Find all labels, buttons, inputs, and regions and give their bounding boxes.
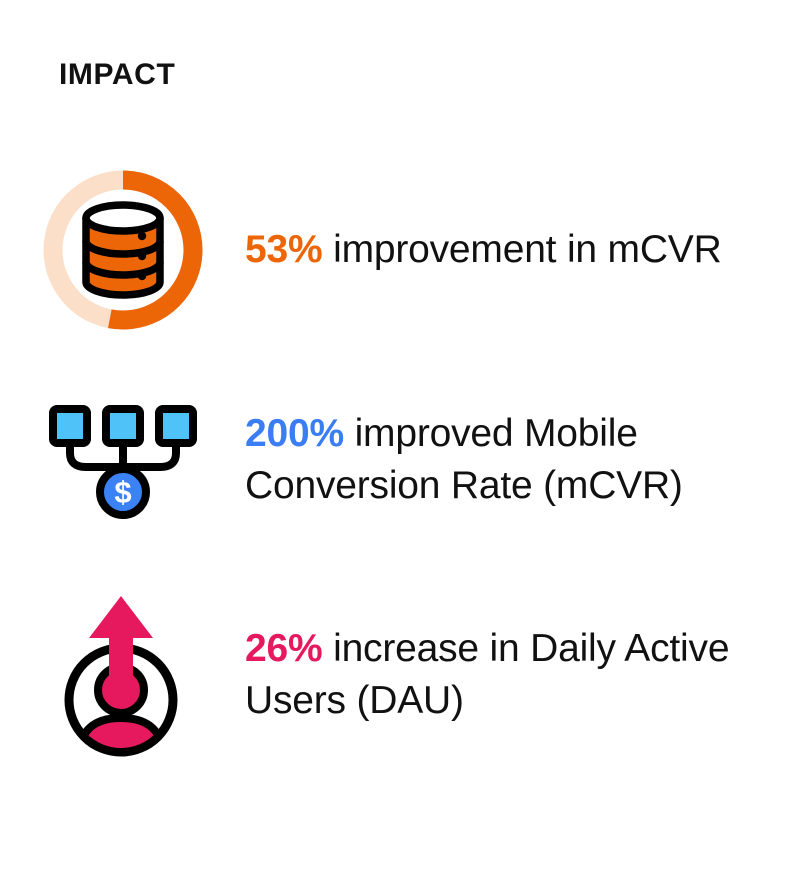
svg-text:$: $ bbox=[114, 475, 131, 510]
page-title: IMPACT bbox=[59, 60, 175, 90]
stat-description: improvement in mCVR bbox=[322, 228, 721, 271]
text-cell: 53% improvement in mCVR bbox=[245, 224, 800, 276]
list-item: 53% improvement in mCVR bbox=[0, 140, 800, 360]
stat-value: 53% bbox=[245, 228, 322, 271]
impact-card: IMPACT bbox=[0, 0, 800, 870]
list-item: $ 200% improved Mobile Conversion Rate (… bbox=[0, 360, 800, 560]
stat-line: 200% improved Mobile Conversion Rate (mC… bbox=[245, 408, 770, 512]
user-growth-arrow-icon bbox=[53, 590, 193, 760]
icon-cell bbox=[0, 590, 245, 760]
impact-stat-list: 53% improvement in mCVR bbox=[0, 140, 800, 790]
icon-cell: $ bbox=[0, 401, 245, 519]
database-donut-icon bbox=[37, 164, 209, 336]
conversion-funnel-dollar-icon: $ bbox=[47, 401, 199, 519]
text-cell: 26% increase in Daily Active Users (DAU) bbox=[245, 623, 800, 727]
text-cell: 200% improved Mobile Conversion Rate (mC… bbox=[245, 408, 800, 512]
stat-line: 26% increase in Daily Active Users (DAU) bbox=[245, 623, 770, 727]
stat-value: 200% bbox=[245, 412, 344, 455]
stat-line: 53% improvement in mCVR bbox=[245, 224, 770, 276]
list-item: 26% increase in Daily Active Users (DAU) bbox=[0, 560, 800, 790]
stat-value: 26% bbox=[245, 627, 322, 670]
icon-cell bbox=[0, 164, 245, 336]
